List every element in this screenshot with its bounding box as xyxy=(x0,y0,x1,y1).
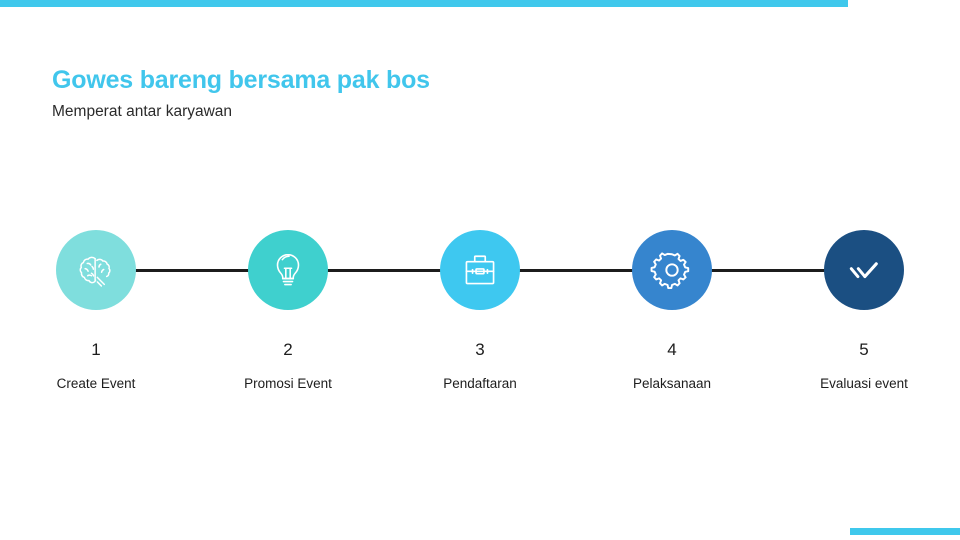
timeline-step-3[interactable]: 3 Pendaftaran xyxy=(384,230,576,391)
step-circle-1[interactable] xyxy=(56,230,136,310)
step-circle-5[interactable] xyxy=(824,230,904,310)
gear-icon xyxy=(650,248,694,292)
page-subtitle: Memperat antar karyawan xyxy=(52,103,752,122)
timeline-step-2[interactable]: 2 Promosi Event xyxy=(192,230,384,391)
page-title: Gowes bareng bersama pak bos xyxy=(52,66,752,95)
step-number-1: 1 xyxy=(91,341,100,358)
step-label-2: Promosi Event xyxy=(244,377,332,391)
step-label-1: Create Event xyxy=(57,377,136,391)
briefcase-icon xyxy=(459,249,501,291)
accent-bar-top xyxy=(0,0,848,7)
accent-bar-bottom xyxy=(850,528,960,535)
lightbulb-icon xyxy=(267,249,309,291)
step-number-5: 5 xyxy=(859,341,868,358)
heading-block: Gowes bareng bersama pak bos Memperat an… xyxy=(52,66,752,121)
step-circle-3[interactable] xyxy=(440,230,520,310)
timeline-step-1[interactable]: 1 Create Event xyxy=(0,230,192,391)
step-number-3: 3 xyxy=(475,341,484,358)
step-number-4: 4 xyxy=(667,341,676,358)
step-circle-4[interactable] xyxy=(632,230,712,310)
step-circle-2[interactable] xyxy=(248,230,328,310)
timeline-step-5[interactable]: 5 Evaluasi event xyxy=(768,230,960,391)
step-label-4: Pelaksanaan xyxy=(633,377,711,391)
slide-canvas: Gowes bareng bersama pak bos Memperat an… xyxy=(0,0,960,540)
process-timeline: 1 Create Event xyxy=(0,230,960,400)
brain-icon xyxy=(75,249,117,291)
timeline-steps: 1 Create Event xyxy=(0,230,960,391)
double-check-icon xyxy=(843,249,885,291)
timeline-step-4[interactable]: 4 Pelaksanaan xyxy=(576,230,768,391)
step-number-2: 2 xyxy=(283,341,292,358)
step-label-5: Evaluasi event xyxy=(820,377,908,391)
step-label-3: Pendaftaran xyxy=(443,377,517,391)
